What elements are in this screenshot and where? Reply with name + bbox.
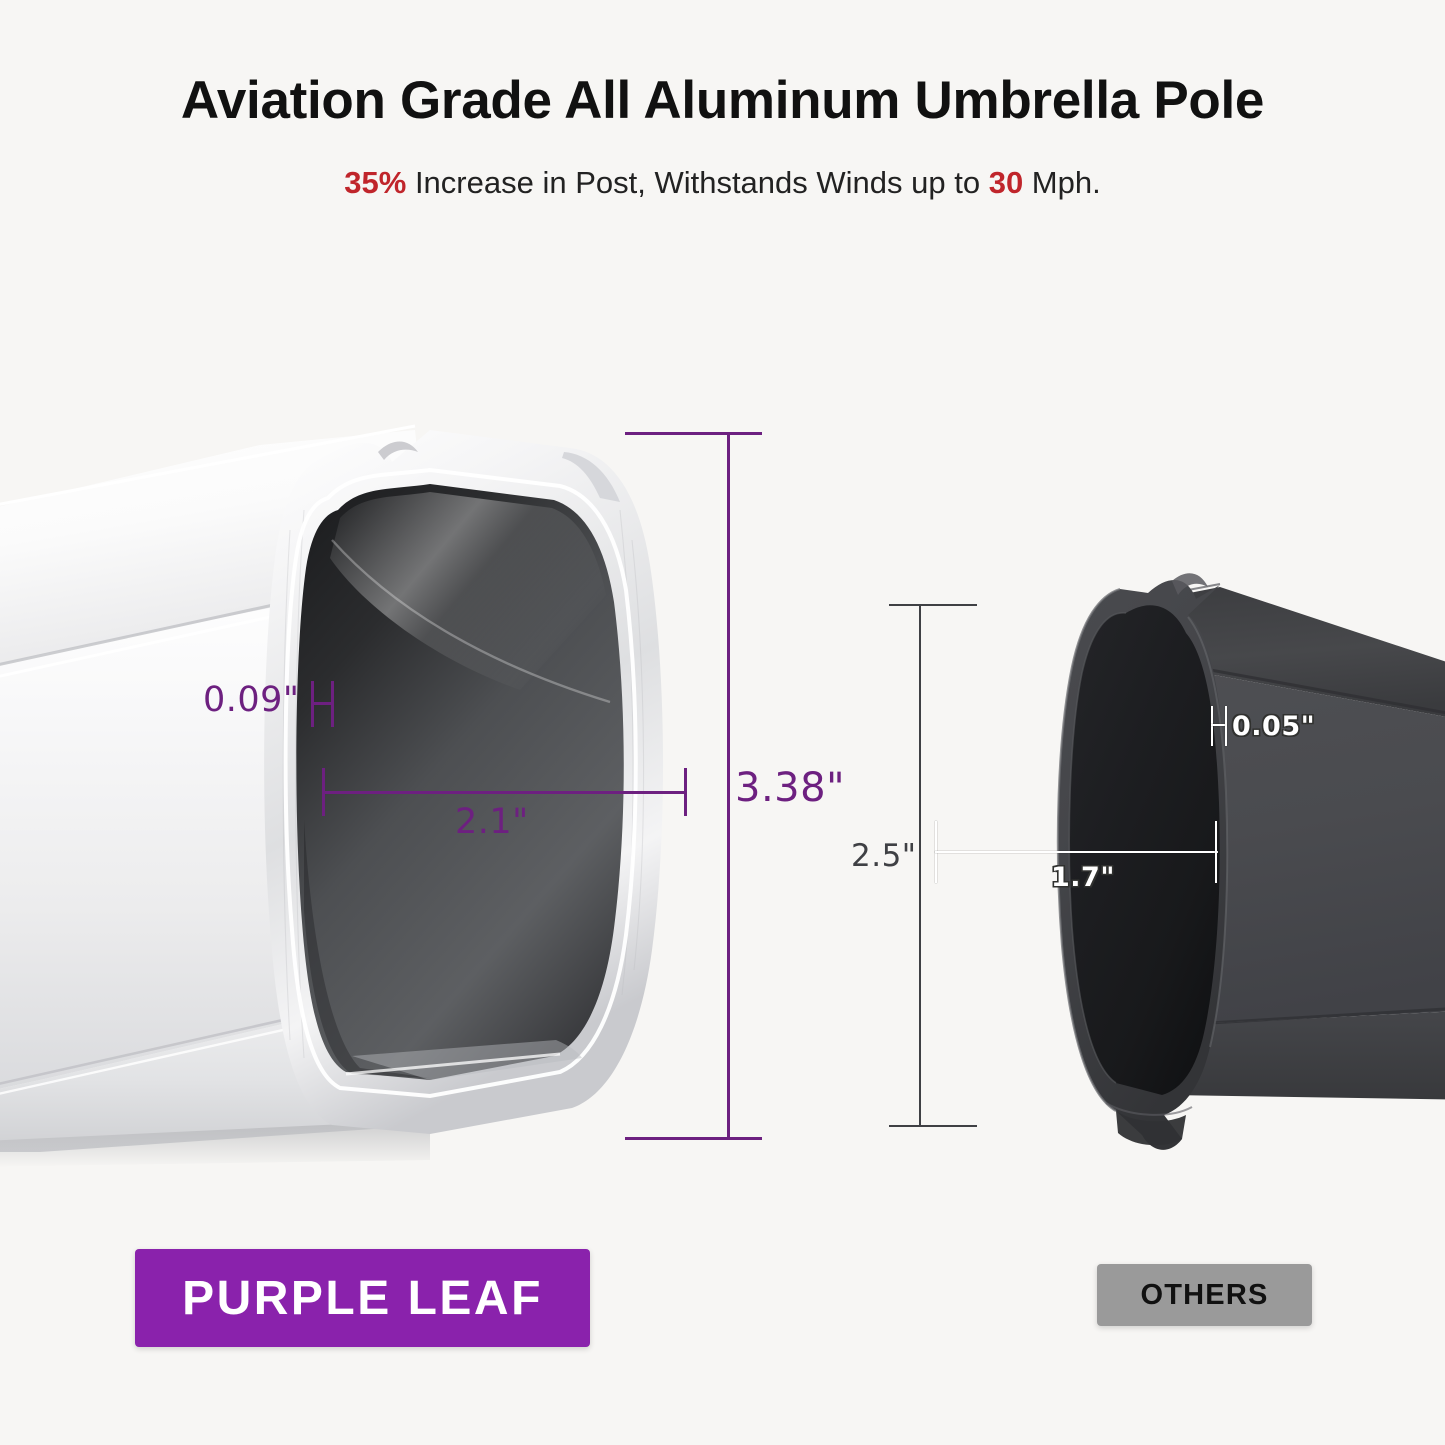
left-outer-height-label: 3.38"	[735, 765, 845, 811]
product-comparison-area: 0.09" 2.1" 3.38"	[0, 0, 1445, 1445]
left-wall-thickness-label: 0.09"	[203, 680, 300, 720]
purple-leaf-badge-label: PURPLE LEAF	[182, 1271, 543, 1326]
left-inner-width-label: 2.1"	[455, 802, 529, 842]
right-inner-width-label: 1.7"	[1051, 862, 1115, 893]
others-badge-label: OTHERS	[1140, 1279, 1268, 1312]
others-pole-svg	[920, 555, 1445, 1180]
purple-leaf-pole-svg	[0, 390, 700, 1180]
purple-leaf-badge: PURPLE LEAF	[135, 1249, 590, 1347]
others-pole-image	[920, 555, 1445, 1175]
infographic-canvas: Aviation Grade All Aluminum Umbrella Pol…	[0, 0, 1445, 1445]
right-wall-thickness-label: 0.05"	[1232, 711, 1315, 742]
others-badge: OTHERS	[1097, 1264, 1312, 1326]
purple-leaf-pole-image	[0, 390, 700, 1170]
right-outer-height-label: 2.5"	[851, 838, 917, 874]
